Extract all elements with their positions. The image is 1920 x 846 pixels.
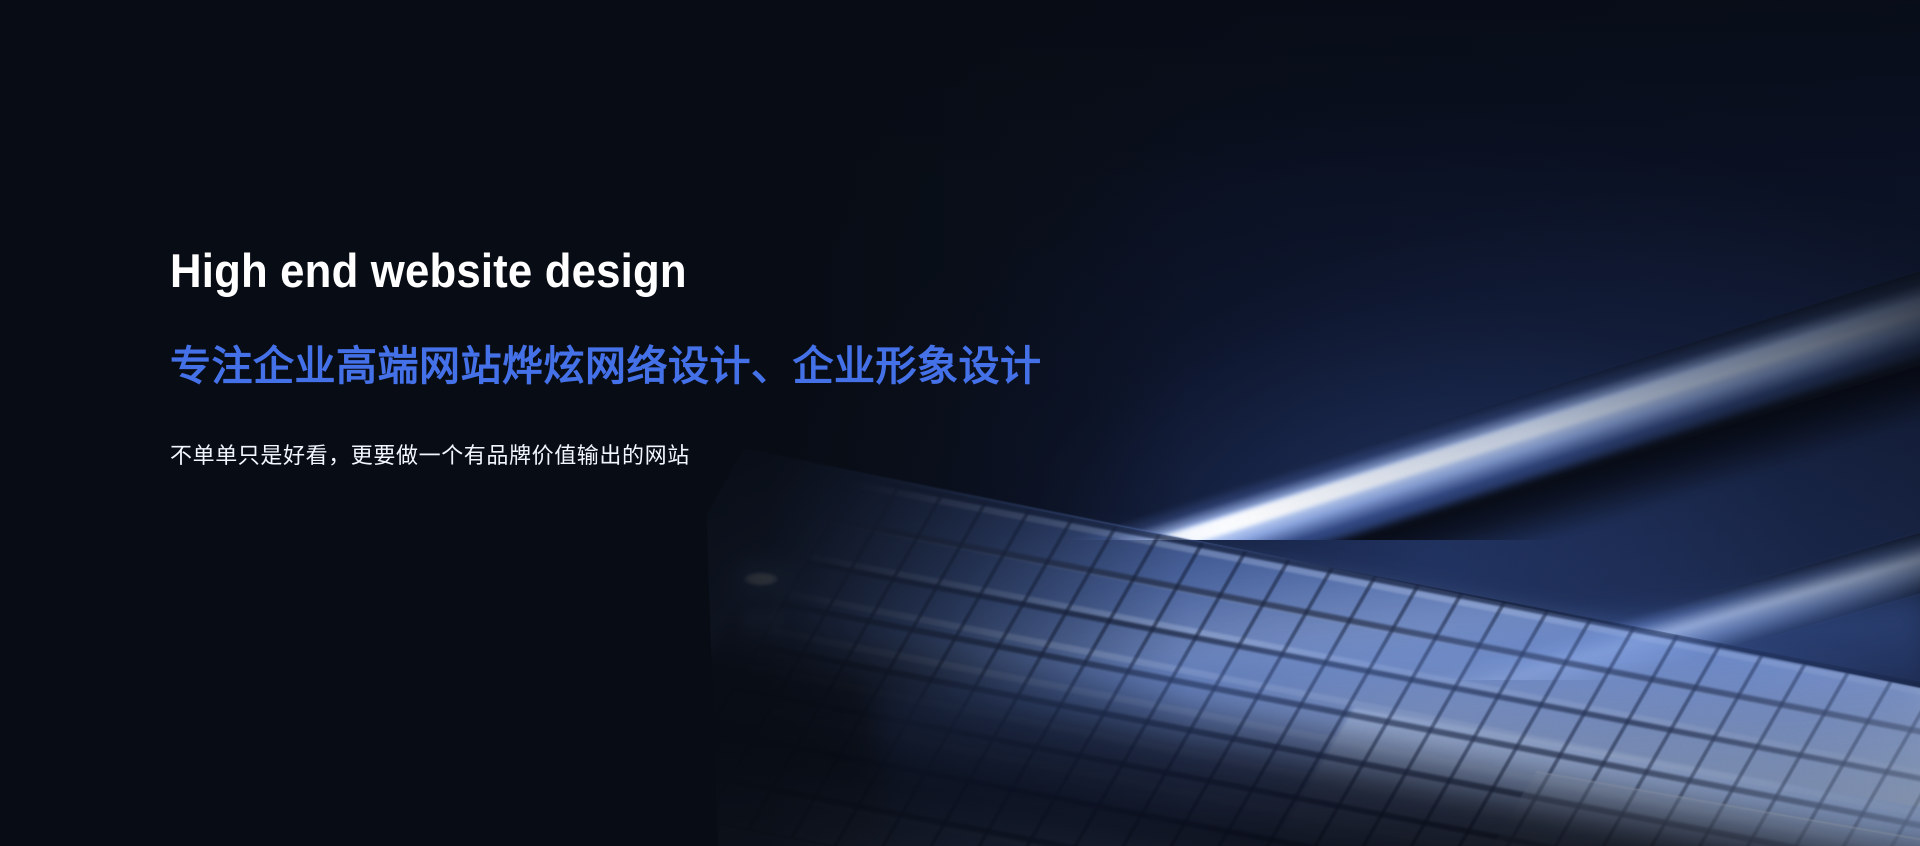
laptop-led-indicator bbox=[744, 572, 778, 586]
hero-copy: High end website design 专注企业高端网站烨炫网络设计、企… bbox=[170, 245, 1150, 473]
hero-subheadline: 专注企业高端网站烨炫网络设计、企业形象设计 bbox=[170, 342, 1150, 390]
hero-banner: High end website design 专注企业高端网站烨炫网络设计、企… bbox=[0, 0, 1920, 846]
hero-tagline: 不单单只是好看，更要做一个有品牌价值输出的网站 bbox=[170, 442, 1150, 473]
hero-headline: High end website design bbox=[170, 245, 1081, 298]
laptop-led-reflection bbox=[742, 612, 782, 658]
